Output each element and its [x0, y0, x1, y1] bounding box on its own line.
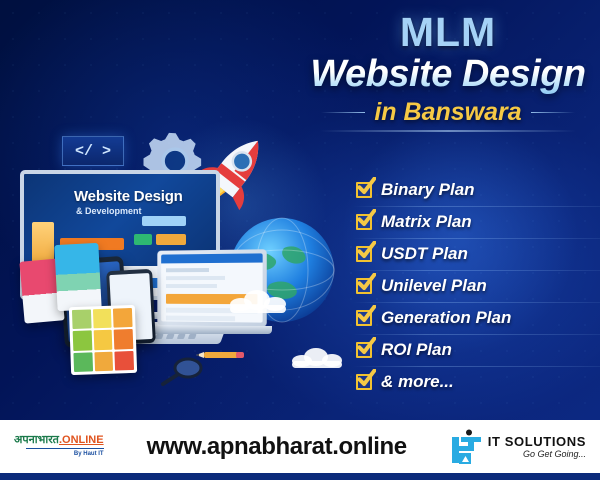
screen-block-amber [156, 234, 186, 245]
apnabharat-byline: By Haut IT [74, 451, 104, 457]
checkbox-checked-icon [356, 342, 372, 358]
color-swatch-grid-icon [69, 305, 137, 375]
it-solutions-logo[interactable]: IT SOLUTIONS Go Get Going... [450, 429, 586, 465]
feature-list: Binary Plan Matrix Plan USDT Plan Unilev… [356, 174, 586, 398]
list-item[interactable]: USDT Plan [356, 238, 586, 270]
list-item[interactable]: Binary Plan [356, 174, 586, 206]
list-item-label: Matrix Plan [381, 212, 472, 232]
it-solutions-text: IT SOLUTIONS Go Get Going... [488, 435, 586, 459]
list-item[interactable]: Unilevel Plan [356, 270, 586, 302]
laptop-topbar [161, 253, 262, 263]
footer-bottom-strip [0, 473, 600, 480]
it-solutions-mark-icon [450, 429, 482, 465]
list-item-label: Generation Plan [381, 308, 511, 328]
headline-mlm: MLM [300, 12, 596, 53]
list-item[interactable]: ROI Plan [356, 334, 586, 366]
laptop-line-5 [166, 316, 235, 322]
headline-location: in Banswara [374, 100, 521, 125]
magnifier-icon [160, 356, 204, 386]
apnabharat-logo-text: अपनाभारत.ONLINE [14, 435, 104, 447]
laptop-line-1 [166, 268, 209, 272]
headline-website-design: Website Design [300, 55, 596, 95]
list-item[interactable]: Generation Plan [356, 302, 586, 334]
apnabharat-domain-suffix: .ONLINE [59, 434, 104, 446]
pencil-icon [196, 350, 244, 360]
color-swatch-cyan-icon [54, 243, 101, 311]
footer-bar: अपनाभारत.ONLINE By Haut IT www.apnabhara… [0, 420, 600, 473]
headline-block: MLM Website Design in Banswara [300, 12, 596, 125]
rule-right-icon [531, 112, 575, 113]
apnabharat-hindi-text: अपनाभारत [14, 434, 59, 446]
apnabharat-logo[interactable]: अपनाभारत.ONLINE By Haut IT [14, 435, 104, 457]
list-item-label: USDT Plan [381, 244, 468, 264]
monitor-screen-subtitle: & Development [76, 206, 142, 216]
checkbox-checked-icon [356, 310, 372, 326]
logo-divider [26, 448, 104, 450]
list-item[interactable]: & more... [356, 366, 586, 398]
artwork-group: </ > [0, 110, 360, 410]
checkbox-checked-icon [356, 214, 372, 230]
it-solutions-name: IT SOLUTIONS [488, 435, 586, 448]
laptop-line-2 [166, 276, 225, 280]
promo-banner: MLM Website Design in Banswara </ > [0, 0, 600, 480]
screen-block-lightblue [142, 216, 186, 226]
laptop-lid [157, 249, 266, 326]
monitor-screen-title: Website Design [74, 188, 183, 205]
website-url[interactable]: www.apnabharat.online [147, 433, 407, 461]
list-item-label: Binary Plan [381, 180, 475, 200]
checkbox-checked-icon [356, 246, 372, 262]
it-solutions-tagline: Go Get Going... [488, 450, 586, 459]
list-item-label: & more... [381, 372, 454, 392]
checkbox-checked-icon [356, 374, 372, 390]
code-tag-icon: </ > [62, 136, 124, 166]
list-item-label: Unilevel Plan [381, 276, 487, 296]
list-item[interactable]: Matrix Plan [356, 206, 586, 238]
list-item-label: ROI Plan [381, 340, 452, 360]
checkbox-checked-icon [356, 182, 372, 198]
laptop-base [150, 326, 272, 334]
laptop-line-3 [166, 284, 217, 288]
screen-block-green [134, 234, 152, 245]
checkbox-checked-icon [356, 278, 372, 294]
